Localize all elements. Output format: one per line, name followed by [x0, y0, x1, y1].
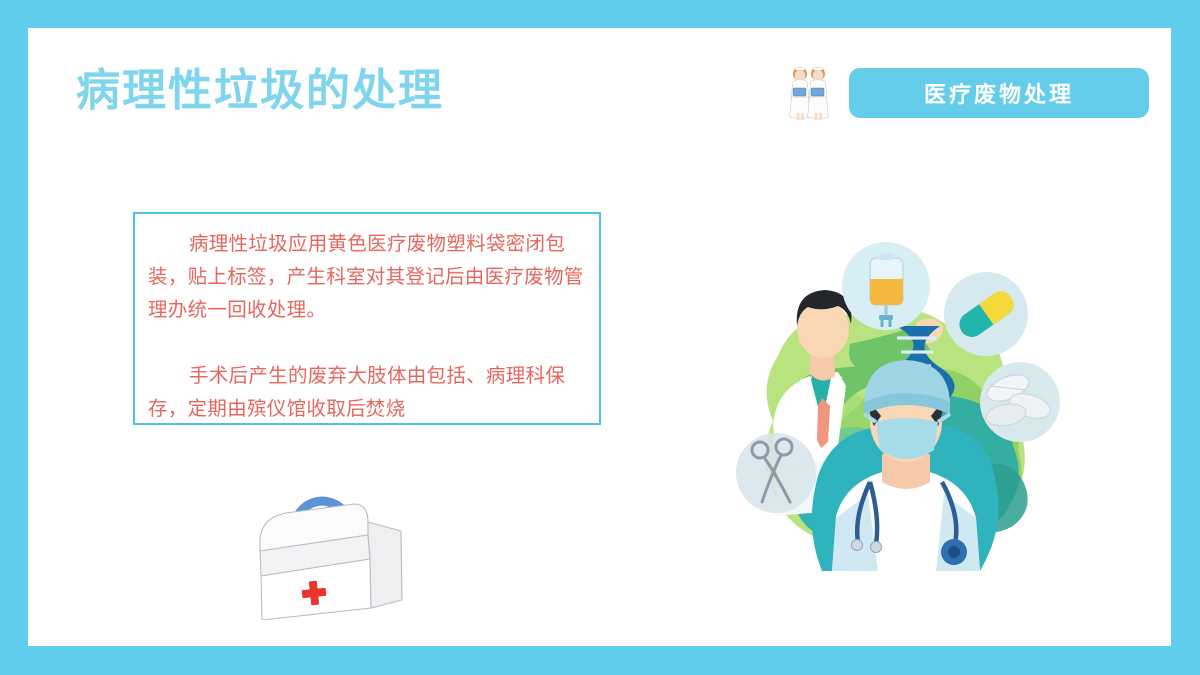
- page-title: 病理性垃圾的处理: [76, 66, 444, 117]
- section-badge[interactable]: 医疗废物处理: [849, 68, 1149, 118]
- medical-team-illustration: [718, 226, 1063, 571]
- iv-bag-icon: [842, 242, 930, 330]
- slide-inner-panel: 病理性垃圾的处理: [28, 28, 1171, 646]
- paragraph-2: 手术后产生的废弃大肢体由包括、病理科保存，定期由殡仪馆收取后焚烧: [148, 360, 586, 426]
- first-aid-kit-icon: [250, 480, 420, 620]
- capsule-pill-icon: [944, 272, 1028, 356]
- first-aid-kit-illustration: [250, 480, 420, 620]
- two-nurses-icon: [785, 64, 833, 122]
- surgical-scissors-icon: [736, 433, 816, 513]
- section-badge-label: 医疗废物处理: [924, 77, 1074, 109]
- surgical-mask-icon: [876, 418, 938, 459]
- doctor-tie: [817, 398, 830, 448]
- tablets-icon: [980, 362, 1060, 442]
- header-right-group: 医疗废物处理: [785, 64, 1149, 122]
- content-text-box: 病理性垃圾应用黄色医疗废物塑料袋密闭包装，贴上标签，产生科室对其登记后由医疗废物…: [133, 212, 601, 425]
- paragraph-1: 病理性垃圾应用黄色医疗废物塑料袋密闭包装，贴上标签，产生科室对其登记后由医疗废物…: [148, 228, 586, 327]
- medical-team-graphic: [718, 226, 1063, 571]
- slide-root: 病理性垃圾的处理: [0, 0, 1200, 675]
